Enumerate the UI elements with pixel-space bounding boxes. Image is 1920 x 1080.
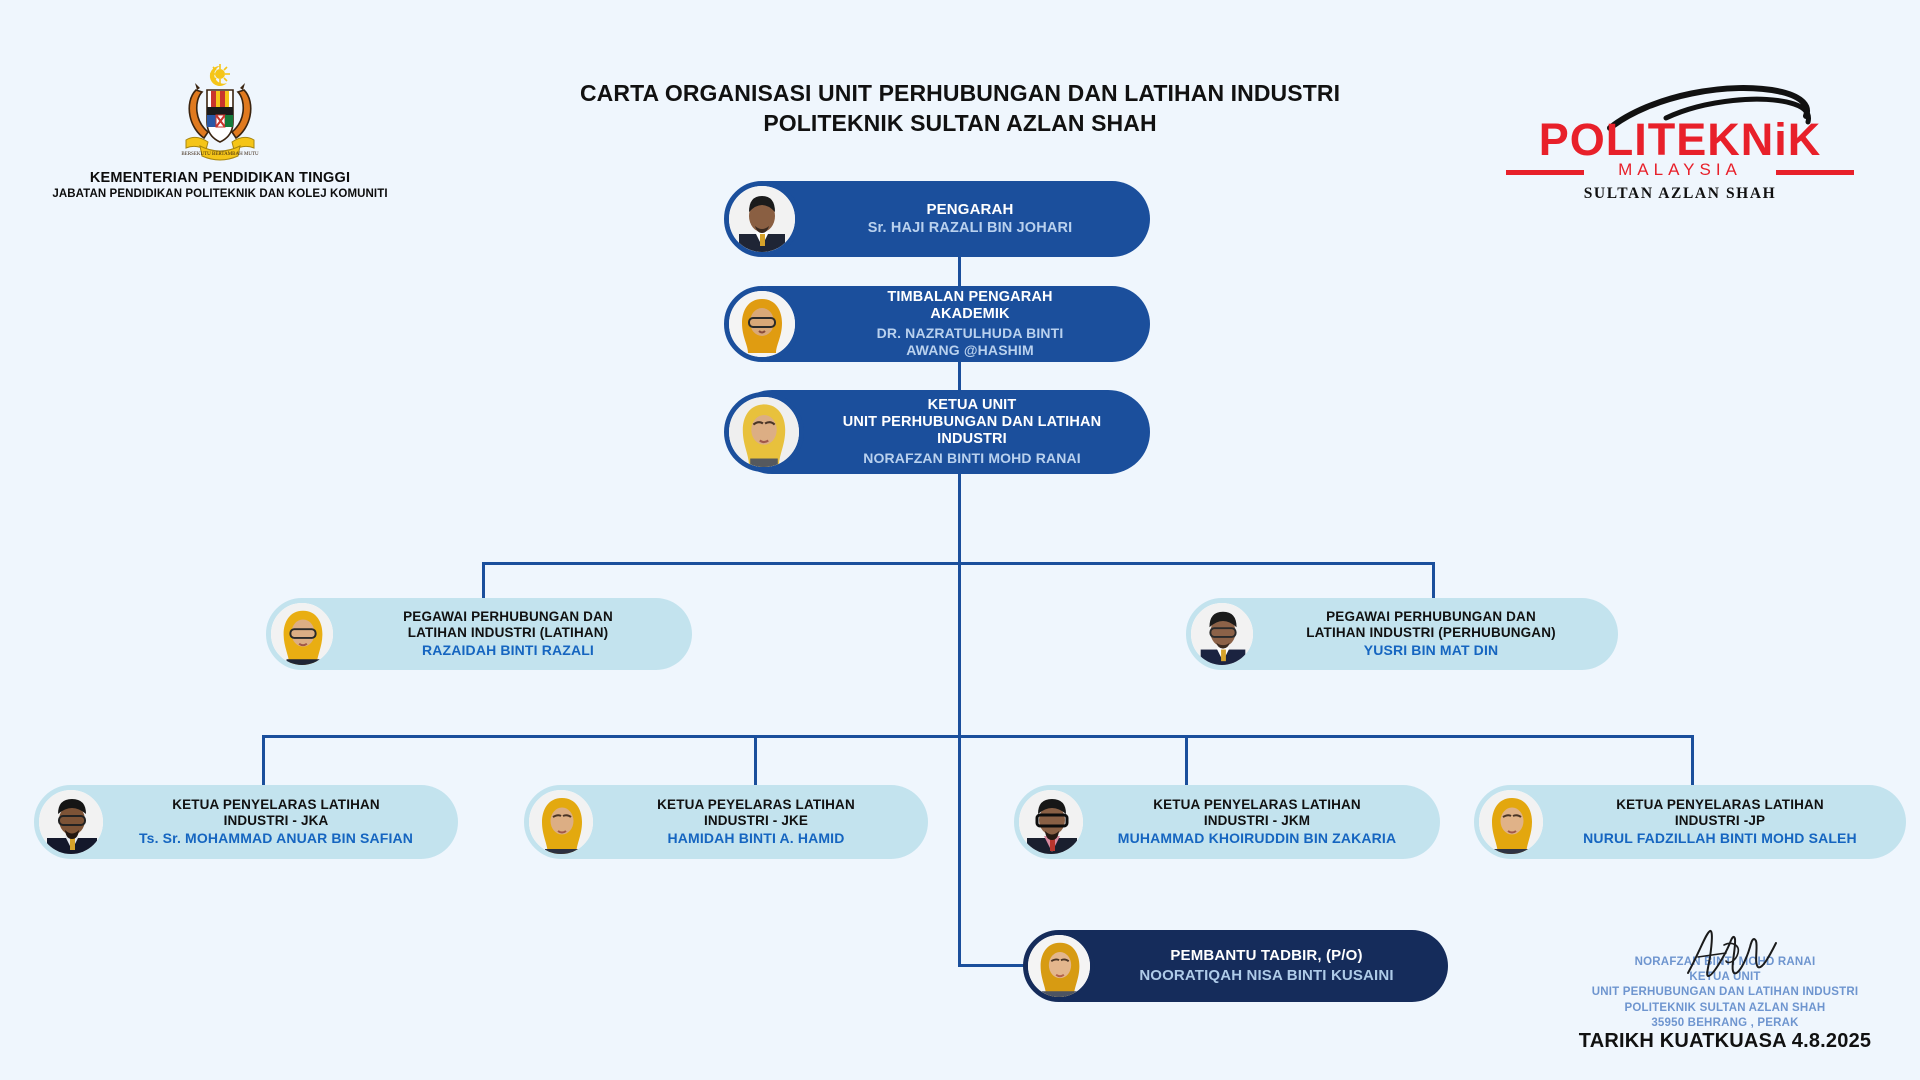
ministry-name-line2: JABATAN PENDIDIKAN POLITEKNIK DAN KOLEJ … <box>40 188 400 200</box>
node-penyelaras-jka[interactable]: KETUA PENYELARAS LATIHAN INDUSTRI - JKA … <box>38 785 458 859</box>
connector-pengarah-timbalan <box>958 257 961 287</box>
node-penyelaras-jp[interactable]: KETUA PENYELARAS LATIHAN INDUSTRI -JP NU… <box>1478 785 1906 859</box>
node-ketua-unit-role-line1: KETUA UNIT <box>810 397 1134 414</box>
connector-jka-drop <box>262 735 265 787</box>
node-pegawai-latihan-name: RAZAIDAH BINTI RAZALI <box>340 642 676 659</box>
node-ketua-unit-role-line3: INDUSTRI <box>810 431 1134 448</box>
institution-subtitle: MALAYSIA <box>1500 160 1860 180</box>
node-pembantu-tadbir-role: PEMBANTU TADBIR, (P/O) <box>1101 947 1432 965</box>
node-penyelaras-jp-name: NURUL FADZILLAH BINTI MOHD SALEH <box>1550 830 1890 847</box>
node-penyelaras-jp-role-line2: INDUSTRI -JP <box>1550 813 1890 829</box>
effective-date: TARIKH KUATKUASA 4.8.2025 <box>1530 1030 1920 1053</box>
connector-officer-bus <box>482 562 1435 565</box>
node-pembantu-tadbir-text: PEMBANTU TADBIR, (P/O) NOORATIQAH NISA B… <box>1095 947 1448 985</box>
connector-jkm-drop <box>1185 735 1188 787</box>
node-pegawai-perhubungan-role-line1: PEGAWAI PERHUBUNGAN DAN <box>1260 609 1602 625</box>
node-pengarah-role: PENGARAH <box>806 201 1134 219</box>
node-penyelaras-jkm[interactable]: KETUA PENYELARAS LATIHAN INDUSTRI - JKM … <box>1018 785 1440 859</box>
ministry-logo-block: BERSEKUTU BERTAMBAH MUTU KEMENTERIAN PEN… <box>40 60 400 200</box>
node-penyelaras-jka-role-line1: KETUA PENYELARAS LATIHAN <box>110 797 442 813</box>
ministry-name-line1: KEMENTERIAN PENDIDIKAN TINGGI <box>40 170 400 186</box>
node-penyelaras-jkm-role-line1: KETUA PENYELARAS LATIHAN <box>1090 797 1424 813</box>
node-penyelaras-jke-role-line2: INDUSTRI - JKE <box>600 813 912 829</box>
node-pengarah-name: Sr. HAJI RAZALI BIN JOHARI <box>806 220 1134 237</box>
node-pembantu-tadbir[interactable]: PEMBANTU TADBIR, (P/O) NOORATIQAH NISA B… <box>1028 930 1448 1002</box>
node-timbalan-name-line2: AWANG @HASHIM <box>806 342 1134 359</box>
node-pembantu-tadbir-name: NOORATIQAH NISA BINTI KUSAINI <box>1101 967 1432 985</box>
node-penyelaras-jka-role-line2: INDUSTRI - JKA <box>110 813 442 829</box>
node-penyelaras-jka-text: KETUA PENYELARAS LATIHAN INDUSTRI - JKA … <box>108 797 458 847</box>
page-title-line2: POLITEKNIK SULTAN AZLAN SHAH <box>460 108 1460 138</box>
node-penyelaras-jp-text: KETUA PENYELARAS LATIHAN INDUSTRI -JP NU… <box>1548 797 1906 847</box>
avatar-pegawai-latihan <box>266 598 338 670</box>
connector-main-trunk <box>958 474 961 964</box>
node-timbalan-name-line1: DR. NAZRATULHUDA BINTI <box>806 325 1134 342</box>
avatar-penyelaras-jke <box>524 785 598 859</box>
page-title: CARTA ORGANISASI UNIT PERHUBUNGAN DAN LA… <box>460 78 1460 139</box>
avatar-pengarah <box>724 181 800 257</box>
page-title-line1: CARTA ORGANISASI UNIT PERHUBUNGAN DAN LA… <box>460 78 1460 108</box>
connector-coordinator-bus <box>262 735 1694 738</box>
signature-block: NORAFZAN BINTI MOHD RANAI KETUA UNIT UNI… <box>1530 955 1920 1031</box>
connector-jp-drop <box>1691 735 1694 787</box>
avatar-penyelaras-jp <box>1474 785 1548 859</box>
node-timbalan-pengarah[interactable]: TIMBALAN PENGARAH AKADEMIK DR. NAZRATULH… <box>730 286 1150 362</box>
node-timbalan-text: TIMBALAN PENGARAH AKADEMIK DR. NAZRATULH… <box>800 289 1150 359</box>
node-pengarah-text: PENGARAH Sr. HAJI RAZALI BIN JOHARI <box>800 201 1150 238</box>
node-ketua-unit[interactable]: KETUA UNIT UNIT PERHUBUNGAN DAN LATIHAN … <box>730 390 1150 474</box>
connector-timbalan-ketuaunit <box>958 362 961 390</box>
node-pegawai-latihan[interactable]: PEGAWAI PERHUBUNGAN DAN LATIHAN INDUSTRI… <box>270 598 692 670</box>
node-penyelaras-jkm-text: KETUA PENYELARAS LATIHAN INDUSTRI - JKM … <box>1088 797 1440 847</box>
avatar-penyelaras-jka <box>34 785 108 859</box>
institution-logo-block: POLITEKNiK MALAYSIA SULTAN AZLAN SHAH <box>1500 86 1860 206</box>
node-penyelaras-jke[interactable]: KETUA PEYELARAS LATIHAN INDUSTRI - JKE H… <box>528 785 928 859</box>
node-pegawai-latihan-role-line2: LATIHAN INDUSTRI (LATIHAN) <box>340 625 676 641</box>
node-penyelaras-jke-name: HAMIDAH BINTI A. HAMID <box>600 830 912 847</box>
node-pegawai-perhubungan-name: YUSRI BIN MAT DIN <box>1260 642 1602 659</box>
org-chart-page: BERSEKUTU BERTAMBAH MUTU KEMENTERIAN PEN… <box>0 0 1920 1080</box>
connector-officer-right-drop <box>1432 562 1435 602</box>
node-pengarah[interactable]: PENGARAH Sr. HAJI RAZALI BIN JOHARI <box>730 181 1150 257</box>
avatar-timbalan-pengarah <box>724 286 800 362</box>
institution-campus: SULTAN AZLAN SHAH <box>1500 185 1860 203</box>
connector-jke-drop <box>754 735 757 787</box>
node-penyelaras-jke-text: KETUA PEYELARAS LATIHAN INDUSTRI - JKE H… <box>598 797 928 847</box>
handwritten-signature-icon <box>1680 927 1790 979</box>
svg-text:BERSEKUTU BERTAMBAH MUTU: BERSEKUTU BERTAMBAH MUTU <box>181 152 259 157</box>
node-penyelaras-jka-name: Ts. Sr. MOHAMMAD ANUAR BIN SAFIAN <box>110 830 442 847</box>
avatar-penyelaras-jkm <box>1014 785 1088 859</box>
malaysia-coat-of-arms-icon: BERSEKUTU BERTAMBAH MUTU <box>160 60 280 164</box>
node-pegawai-latihan-text: PEGAWAI PERHUBUNGAN DAN LATIHAN INDUSTRI… <box>338 609 692 659</box>
node-penyelaras-jkm-name: MUHAMMAD KHOIRUDDIN BIN ZAKARIA <box>1090 830 1424 847</box>
avatar-ketua-unit <box>724 392 804 472</box>
signature-line-3: UNIT PERHUBUNGAN DAN LATIHAN INDUSTRI <box>1530 985 1920 1000</box>
node-ketua-unit-role-line2: UNIT PERHUBUNGAN DAN LATIHAN <box>810 414 1134 431</box>
node-timbalan-role-line1: TIMBALAN PENGARAH <box>806 289 1134 306</box>
signature-line-5: 35950 BEHRANG , PERAK <box>1530 1016 1920 1031</box>
node-penyelaras-jke-role-line1: KETUA PEYELARAS LATIHAN <box>600 797 912 813</box>
node-penyelaras-jp-role-line1: KETUA PENYELARAS LATIHAN <box>1550 797 1890 813</box>
node-ketua-unit-name: NORAFZAN BINTI MOHD RANAI <box>810 450 1134 467</box>
node-pegawai-perhubungan-role-line2: LATIHAN INDUSTRI (PERHUBUNGAN) <box>1260 625 1602 641</box>
node-ketua-unit-text: KETUA UNIT UNIT PERHUBUNGAN DAN LATIHAN … <box>804 397 1150 467</box>
node-pegawai-perhubungan-text: PEGAWAI PERHUBUNGAN DAN LATIHAN INDUSTRI… <box>1258 609 1618 659</box>
connector-admin-branch <box>958 964 1028 967</box>
signature-line-4: POLITEKNIK SULTAN AZLAN SHAH <box>1530 1001 1920 1016</box>
connector-officer-left-drop <box>482 562 485 602</box>
node-penyelaras-jkm-role-line2: INDUSTRI - JKM <box>1090 813 1424 829</box>
avatar-pembantu-tadbir <box>1023 930 1095 1002</box>
avatar-pegawai-perhubungan <box>1186 598 1258 670</box>
institution-wordmark: POLITEKNiK <box>1500 114 1860 166</box>
node-pegawai-latihan-role-line1: PEGAWAI PERHUBUNGAN DAN <box>340 609 676 625</box>
node-timbalan-role-line2: AKADEMIK <box>806 306 1134 323</box>
node-pegawai-perhubungan[interactable]: PEGAWAI PERHUBUNGAN DAN LATIHAN INDUSTRI… <box>1190 598 1618 670</box>
